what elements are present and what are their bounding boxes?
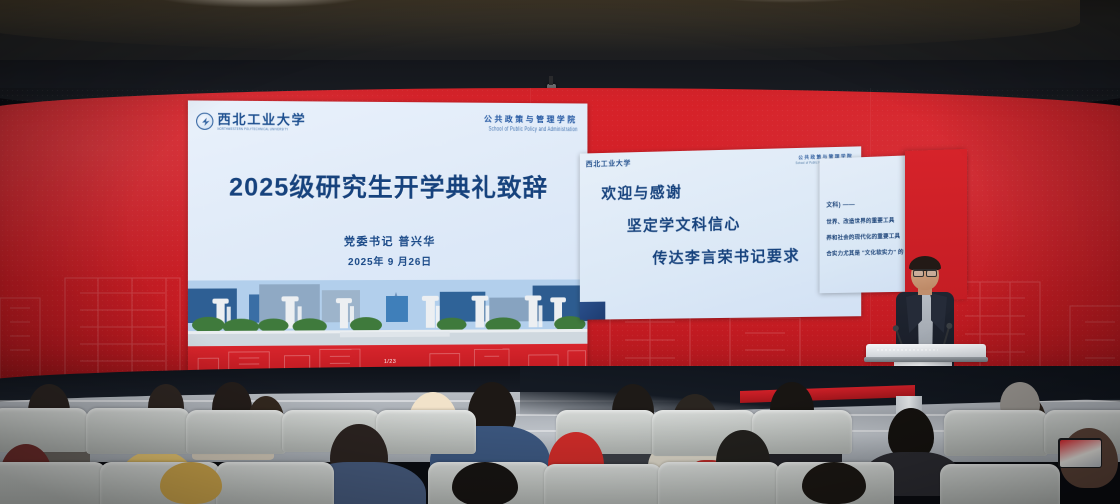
seat-back (186, 410, 286, 454)
backdrop-left-shading (0, 88, 200, 388)
ceiling-light-glow (0, 0, 1080, 52)
audience-head-foreground (452, 462, 518, 504)
audience-head-foreground (802, 462, 866, 504)
slide-header: 西北工业大学 NORTHWESTERN POLYTECHNICAL UNIVER… (188, 100, 588, 143)
slide-speaker-line: 党委书记 普兴华 (188, 233, 588, 249)
school-name-cn: 公共政策与管理学院 (484, 116, 578, 125)
university-logo: 西北工业大学 NORTHWESTERN POLYTECHNICAL UNIVER… (196, 112, 306, 130)
university-name-en: NORTHWESTERN POLYTECHNICAL UNIVERSITY (218, 126, 307, 131)
second-slide-corner-accent (580, 302, 605, 320)
university-name-cn: 西北工业大学 (218, 112, 307, 126)
seat-front (544, 464, 662, 504)
phone-screen (1060, 440, 1101, 467)
main-slide-panel: 西北工业大学 NORTHWESTERN POLYTECHNICAL UNIVER… (188, 100, 588, 371)
seat-back (944, 410, 1048, 456)
campus-photo (188, 279, 588, 346)
auditorium-scene: 西北工业大学 NORTHWESTERN POLYTECHNICAL UNIVER… (0, 0, 1120, 504)
seat-back (0, 408, 88, 452)
podium-front-plate (864, 357, 988, 362)
seat-front (216, 462, 334, 504)
seat-back (86, 408, 190, 454)
speaker-glasses-icon (913, 269, 937, 274)
second-university-name-cn: 西北工业大学 (586, 158, 631, 169)
school-name-en: School of Public Policy and Administrati… (484, 125, 578, 133)
school-branding: 公共政策与管理学院 School of Public Policy and Ad… (484, 116, 578, 130)
slide-title: 2025级研究生开学典礼致辞 (188, 167, 588, 204)
slide-date-line: 2025年 9 月26日 (188, 253, 588, 269)
seat-front (658, 462, 780, 504)
seat-back (376, 410, 476, 454)
audience-phone (1058, 438, 1102, 468)
seat-front (940, 464, 1060, 504)
campus-gate-illustration-icon (188, 279, 588, 346)
seat-front (0, 462, 106, 504)
audience-head-foreground (160, 462, 222, 504)
audience (0, 372, 1120, 504)
university-seal-icon (196, 112, 213, 129)
